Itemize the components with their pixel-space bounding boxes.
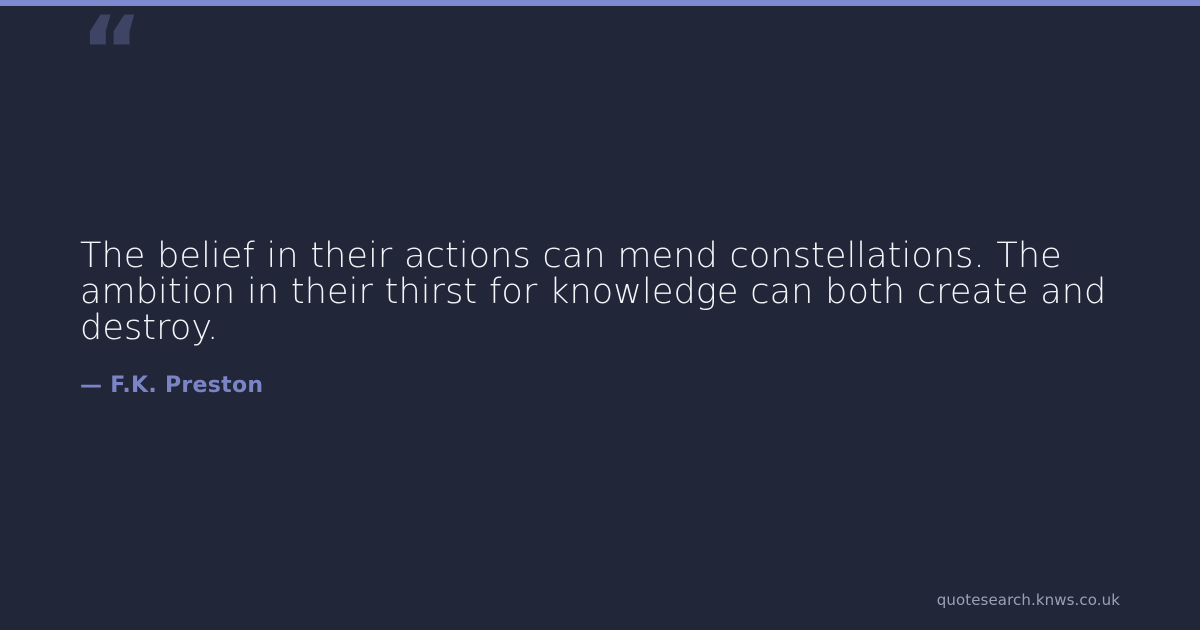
opening-quotation-mark-icon: “: [80, 6, 200, 98]
source-watermark: quotesearch.knws.co.uk: [937, 591, 1120, 609]
quote-attribution: — F.K. Preston: [80, 346, 1124, 399]
quote-card: “ The belief in their actions can mend c…: [0, 0, 1200, 630]
quote-block: The belief in their actions can mend con…: [80, 238, 1124, 399]
quote-text: The belief in their actions can mend con…: [80, 238, 1124, 346]
